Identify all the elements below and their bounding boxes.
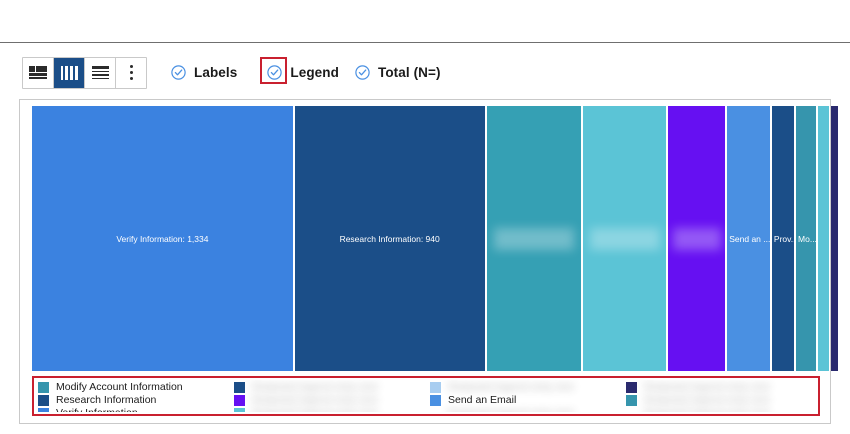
legend-item-label: Send an Email <box>448 394 516 406</box>
chart-segment[interactable] <box>818 106 829 371</box>
legend-item[interactable]: Redacted legend entry text <box>626 381 816 393</box>
chart-panel: Verify Information: 1,334Research Inform… <box>19 99 831 424</box>
layout-icon <box>29 66 47 79</box>
legend-swatch-icon <box>430 382 441 393</box>
legend-item[interactable]: Redacted legend entry text <box>430 407 626 412</box>
toggle-total-label: Total (N=) <box>378 65 441 80</box>
marimekko-chart[interactable]: Verify Information: 1,334Research Inform… <box>32 106 820 371</box>
legend-item-label: Research Information <box>56 394 156 406</box>
legend-column: Redacted legend entry textRedacted legen… <box>234 380 430 412</box>
toggle-labels-label: Labels <box>194 65 237 80</box>
legend-swatch-icon <box>626 395 637 406</box>
legend-item-label: Redacted legend entry text <box>448 407 574 412</box>
legend-item-label: Redacted legend entry text <box>252 381 378 393</box>
layout-view-button[interactable] <box>23 58 54 88</box>
toggle-legend[interactable]: Legend <box>265 62 341 83</box>
chart-segment-label: Mo... <box>796 234 816 244</box>
legend-item[interactable]: Redacted legend entry text <box>626 407 816 412</box>
chart-toolbar: Labels Legend Total (N=) <box>0 50 850 95</box>
legend-item-label: Redacted legend entry text <box>252 394 378 406</box>
check-circle-icon <box>267 65 282 80</box>
legend-swatch-icon <box>234 395 245 406</box>
chart-segment[interactable]: Research Information: 940 <box>295 106 485 371</box>
legend-item[interactable]: Redacted legend entry text <box>626 394 816 406</box>
legend-swatch-icon <box>626 382 637 393</box>
chart-segment-label: Send an ... <box>727 234 770 244</box>
chart-segment-label: Verify Information: 1,334 <box>114 234 210 244</box>
horizontal-bars-icon <box>92 66 109 80</box>
top-divider <box>0 42 850 43</box>
check-circle-icon <box>355 65 370 80</box>
legend-item-label: Modify Account Information <box>56 381 183 393</box>
legend-item-label: Redacted legend entry text <box>448 381 574 393</box>
legend-swatch-icon <box>38 408 49 413</box>
redacted-segment-label <box>590 228 660 250</box>
legend-item-label: Verify Information <box>56 407 138 412</box>
view-mode-button-group <box>22 57 147 89</box>
toggle-labels[interactable]: Labels <box>169 62 239 83</box>
redacted-segment-label <box>673 228 721 250</box>
legend-item-label: Redacted legend entry text <box>252 407 378 412</box>
chart-segment[interactable] <box>831 106 838 371</box>
display-toggles: Labels Legend Total (N=) <box>169 62 469 83</box>
legend-item[interactable]: Redacted legend entry text <box>234 407 430 412</box>
chart-segment[interactable] <box>583 106 666 371</box>
legend-swatch-icon <box>234 382 245 393</box>
chart-segment[interactable] <box>668 106 725 371</box>
more-options-button[interactable] <box>116 58 146 88</box>
chart-segment-label: Research Information: 940 <box>338 234 442 244</box>
legend-swatch-icon <box>234 408 245 413</box>
chart-segment[interactable] <box>487 106 582 371</box>
legend-item[interactable]: Research Information <box>38 394 234 406</box>
chart-segment[interactable]: Mo... <box>796 106 816 371</box>
chart-segment-label: Prov... <box>772 234 794 244</box>
check-circle-icon <box>171 65 186 80</box>
legend-item[interactable]: Redacted legend entry text <box>234 381 430 393</box>
legend-swatch-icon <box>38 395 49 406</box>
toggle-legend-label: Legend <box>290 65 339 80</box>
legend-item[interactable]: Verify Information <box>38 407 234 412</box>
legend-swatch-icon <box>38 382 49 393</box>
legend-item[interactable]: Redacted legend entry text <box>430 381 626 393</box>
horizontal-bars-view-button[interactable] <box>85 58 116 88</box>
chart-segment[interactable]: Prov... <box>772 106 794 371</box>
legend-item[interactable]: Send an Email <box>430 394 626 406</box>
legend-item-label: Redacted legend entry text <box>644 381 770 393</box>
legend-column: Redacted legend entry textSend an EmailR… <box>430 380 626 412</box>
legend-column: Redacted legend entry textRedacted legen… <box>626 380 816 412</box>
legend-item[interactable]: Redacted legend entry text <box>234 394 430 406</box>
legend-swatch-icon <box>430 395 441 406</box>
legend-item[interactable]: Modify Account Information <box>38 381 234 393</box>
chart-segment[interactable]: Send an ... <box>727 106 770 371</box>
legend-item-label: Redacted legend entry text <box>644 394 770 406</box>
vertical-bars-view-button[interactable] <box>54 58 85 88</box>
chart-segment[interactable]: Verify Information: 1,334 <box>32 106 293 371</box>
legend-item-label: Redacted legend entry text <box>644 407 770 412</box>
vertical-bars-icon <box>61 66 78 80</box>
chart-legend: Modify Account InformationResearch Infor… <box>32 376 820 416</box>
toggle-total[interactable]: Total (N=) <box>353 62 443 83</box>
legend-columns: Modify Account InformationResearch Infor… <box>38 380 816 412</box>
legend-column: Modify Account InformationResearch Infor… <box>38 380 234 412</box>
redacted-segment-label <box>494 228 574 250</box>
kebab-menu-icon <box>129 65 133 80</box>
